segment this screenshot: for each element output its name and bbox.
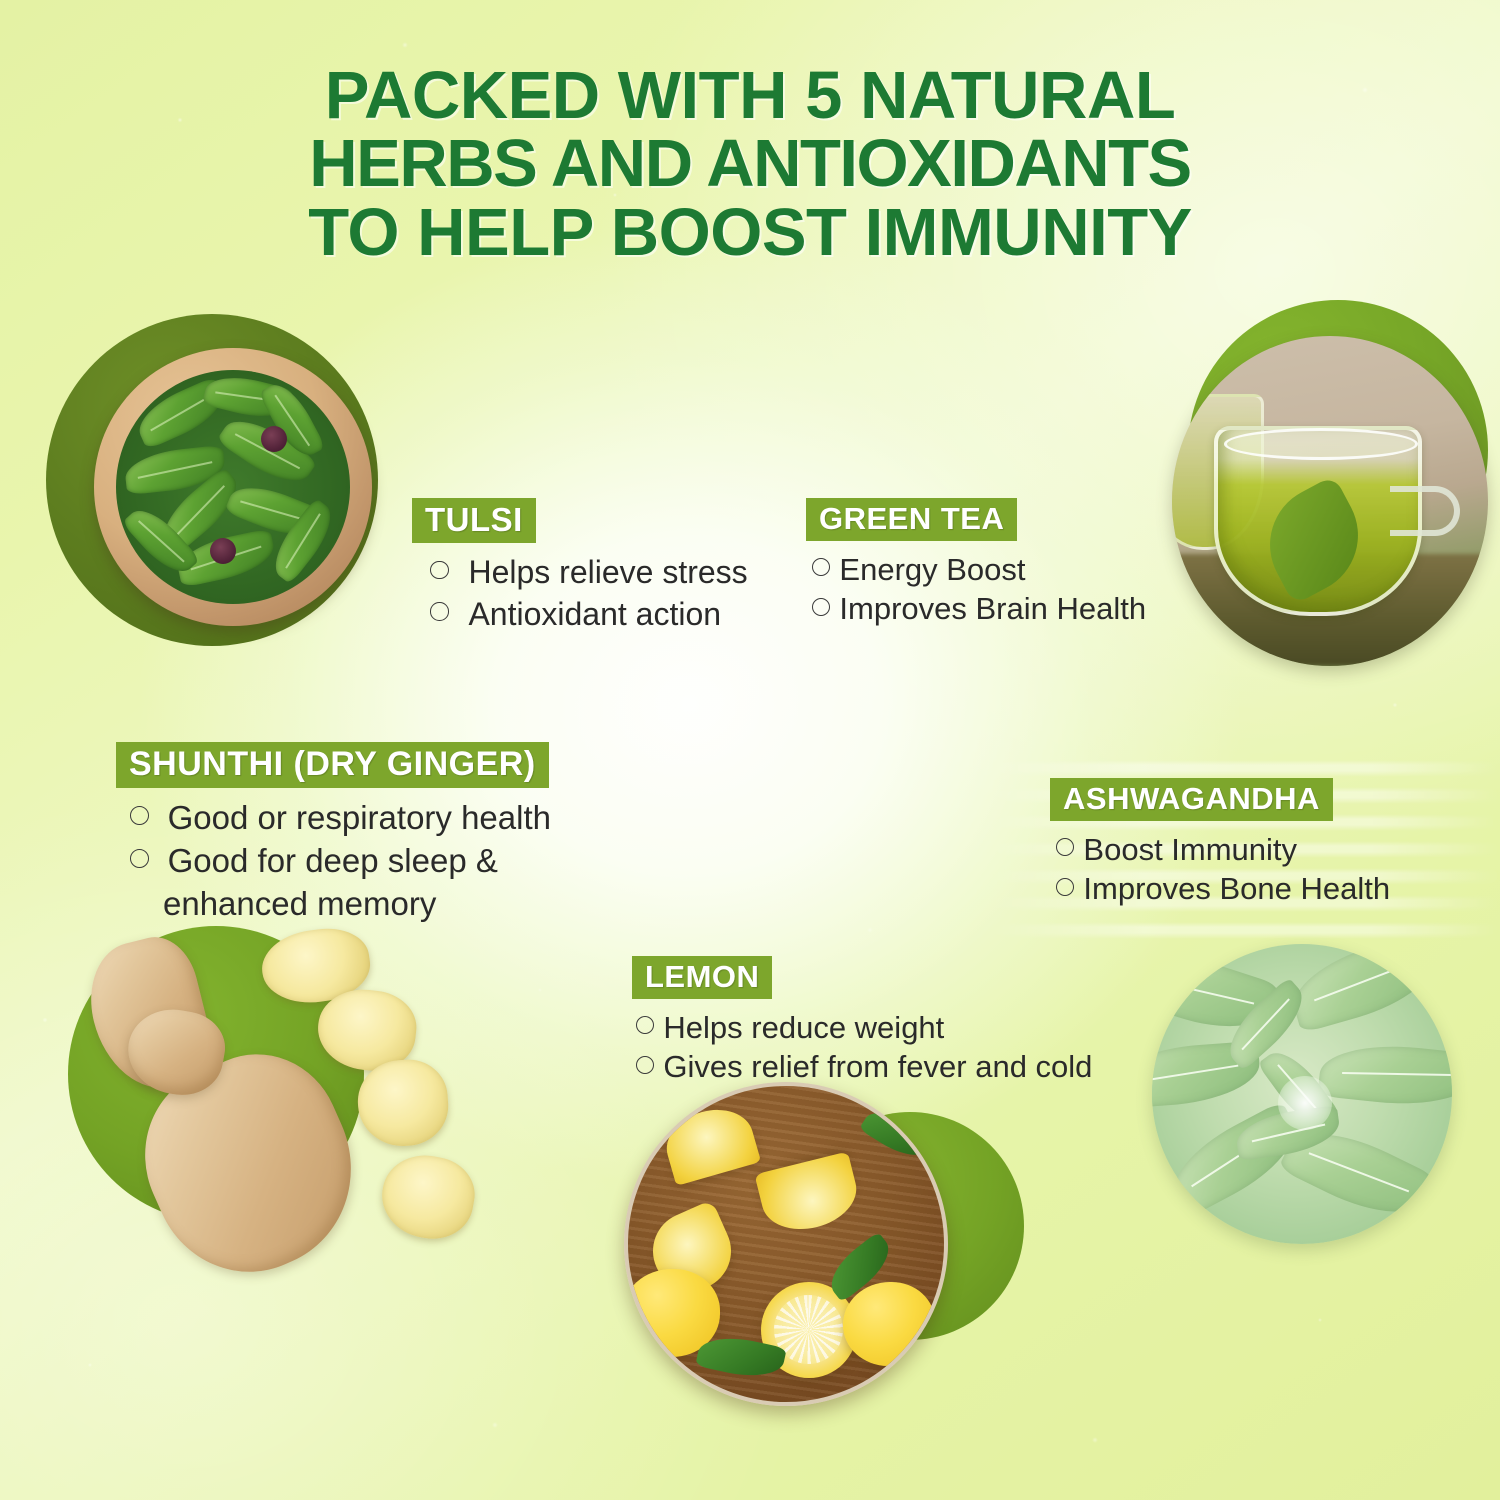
- benefit-text: Helps reduce weight: [663, 1010, 944, 1045]
- ingredient-block-tulsi: TULSI Helps relieve stress Antioxidant a…: [412, 498, 748, 635]
- green-tea-cup-image: [1172, 336, 1488, 666]
- ingredient-label-shunthi: SHUNTHI (DRY GINGER): [116, 742, 549, 788]
- tulsi-wooden-bowl-image: [94, 348, 372, 626]
- benefit-text: Good for deep sleep &: [168, 842, 498, 879]
- list-item: Energy Boost: [812, 550, 1146, 589]
- list-item: Improves Bone Health: [1056, 869, 1390, 908]
- benefit-list-tulsi: Helps relieve stress Antioxidant action: [412, 552, 748, 635]
- ingredient-block-ashwagandha: ASHWAGANDHA Boost Immunity Improves Bone…: [1050, 778, 1390, 909]
- page-title: PACKED WITH 5 NATURAL HERBS AND ANTIOXID…: [0, 62, 1500, 267]
- bullet-circle-icon: [430, 561, 449, 580]
- ashwagandha-leaf-4: [1317, 1038, 1452, 1112]
- page-title-line-3: TO HELP BOOST IMMUNITY: [0, 199, 1500, 267]
- bullet-circle-icon: [1056, 838, 1074, 856]
- ingredient-label-ashwagandha: ASHWAGANDHA: [1050, 778, 1333, 821]
- benefit-list-ashwagandha: Boost Immunity Improves Bone Health: [1050, 830, 1390, 909]
- bullet-circle-icon: [812, 558, 830, 576]
- bullet-circle-icon: [130, 849, 149, 868]
- benefit-text: Energy Boost: [839, 552, 1025, 587]
- list-item: Good for deep sleep &: [130, 840, 551, 883]
- list-item: Antioxidant action: [430, 594, 748, 636]
- tulsi-bowl-interior: [116, 370, 350, 604]
- benefit-text: Good or respiratory health: [168, 799, 551, 836]
- ingredient-label-green-tea: GREEN TEA: [806, 498, 1017, 541]
- page-title-line-2: HERBS AND ANTIOXIDANTS: [0, 130, 1500, 198]
- benefit-text: enhanced memory: [163, 885, 436, 922]
- bullet-circle-icon: [430, 602, 449, 621]
- list-item: Helps reduce weight: [636, 1008, 1092, 1047]
- tea-leaf-in-cup: [1249, 475, 1379, 605]
- ingredient-block-shunthi: SHUNTHI (DRY GINGER) Good or respiratory…: [116, 742, 551, 926]
- ingredient-label-lemon: LEMON: [632, 956, 772, 999]
- benefit-text: Gives relief from fever and cold: [663, 1049, 1092, 1084]
- benefit-text: Boost Immunity: [1083, 832, 1297, 867]
- list-item: Improves Brain Health: [812, 589, 1146, 628]
- bullet-circle-icon: [636, 1056, 654, 1074]
- benefit-text: Helps relieve stress: [468, 554, 747, 590]
- benefit-list-lemon: Helps reduce weight Gives relief from fe…: [632, 1008, 1092, 1087]
- list-item-continuation: enhanced memory: [130, 883, 551, 926]
- list-item: Gives relief from fever and cold: [636, 1047, 1092, 1086]
- cup-handle: [1390, 486, 1460, 536]
- bullet-circle-icon: [1056, 878, 1074, 896]
- list-item: Helps relieve stress: [430, 552, 748, 594]
- lemon-wooden-board-image: [624, 1082, 948, 1406]
- benefit-text: Antioxidant action: [468, 596, 721, 632]
- benefit-text: Improves Brain Health: [839, 591, 1146, 626]
- cup-rim: [1224, 428, 1418, 460]
- lemon-whole-right: [843, 1282, 935, 1366]
- ingredient-label-tulsi: TULSI: [412, 498, 536, 543]
- ashwagandha-flower-cluster: [1278, 1076, 1332, 1130]
- bullet-circle-icon: [812, 598, 830, 616]
- bullet-circle-icon: [636, 1016, 654, 1034]
- list-item: Good or respiratory health: [130, 797, 551, 840]
- ashwagandha-plant-image: [1152, 944, 1452, 1244]
- list-item: Boost Immunity: [1056, 830, 1390, 869]
- benefit-list-green-tea: Energy Boost Improves Brain Health: [806, 550, 1146, 629]
- benefit-list-shunthi: Good or respiratory health Good for deep…: [116, 797, 551, 926]
- ingredient-block-green-tea: GREEN TEA Energy Boost Improves Brain He…: [806, 498, 1146, 629]
- bullet-circle-icon: [130, 806, 149, 825]
- page-title-line-1: PACKED WITH 5 NATURAL: [0, 62, 1500, 130]
- ingredient-block-lemon: LEMON Helps reduce weight Gives relief f…: [632, 956, 1092, 1087]
- benefit-text: Improves Bone Health: [1083, 871, 1390, 906]
